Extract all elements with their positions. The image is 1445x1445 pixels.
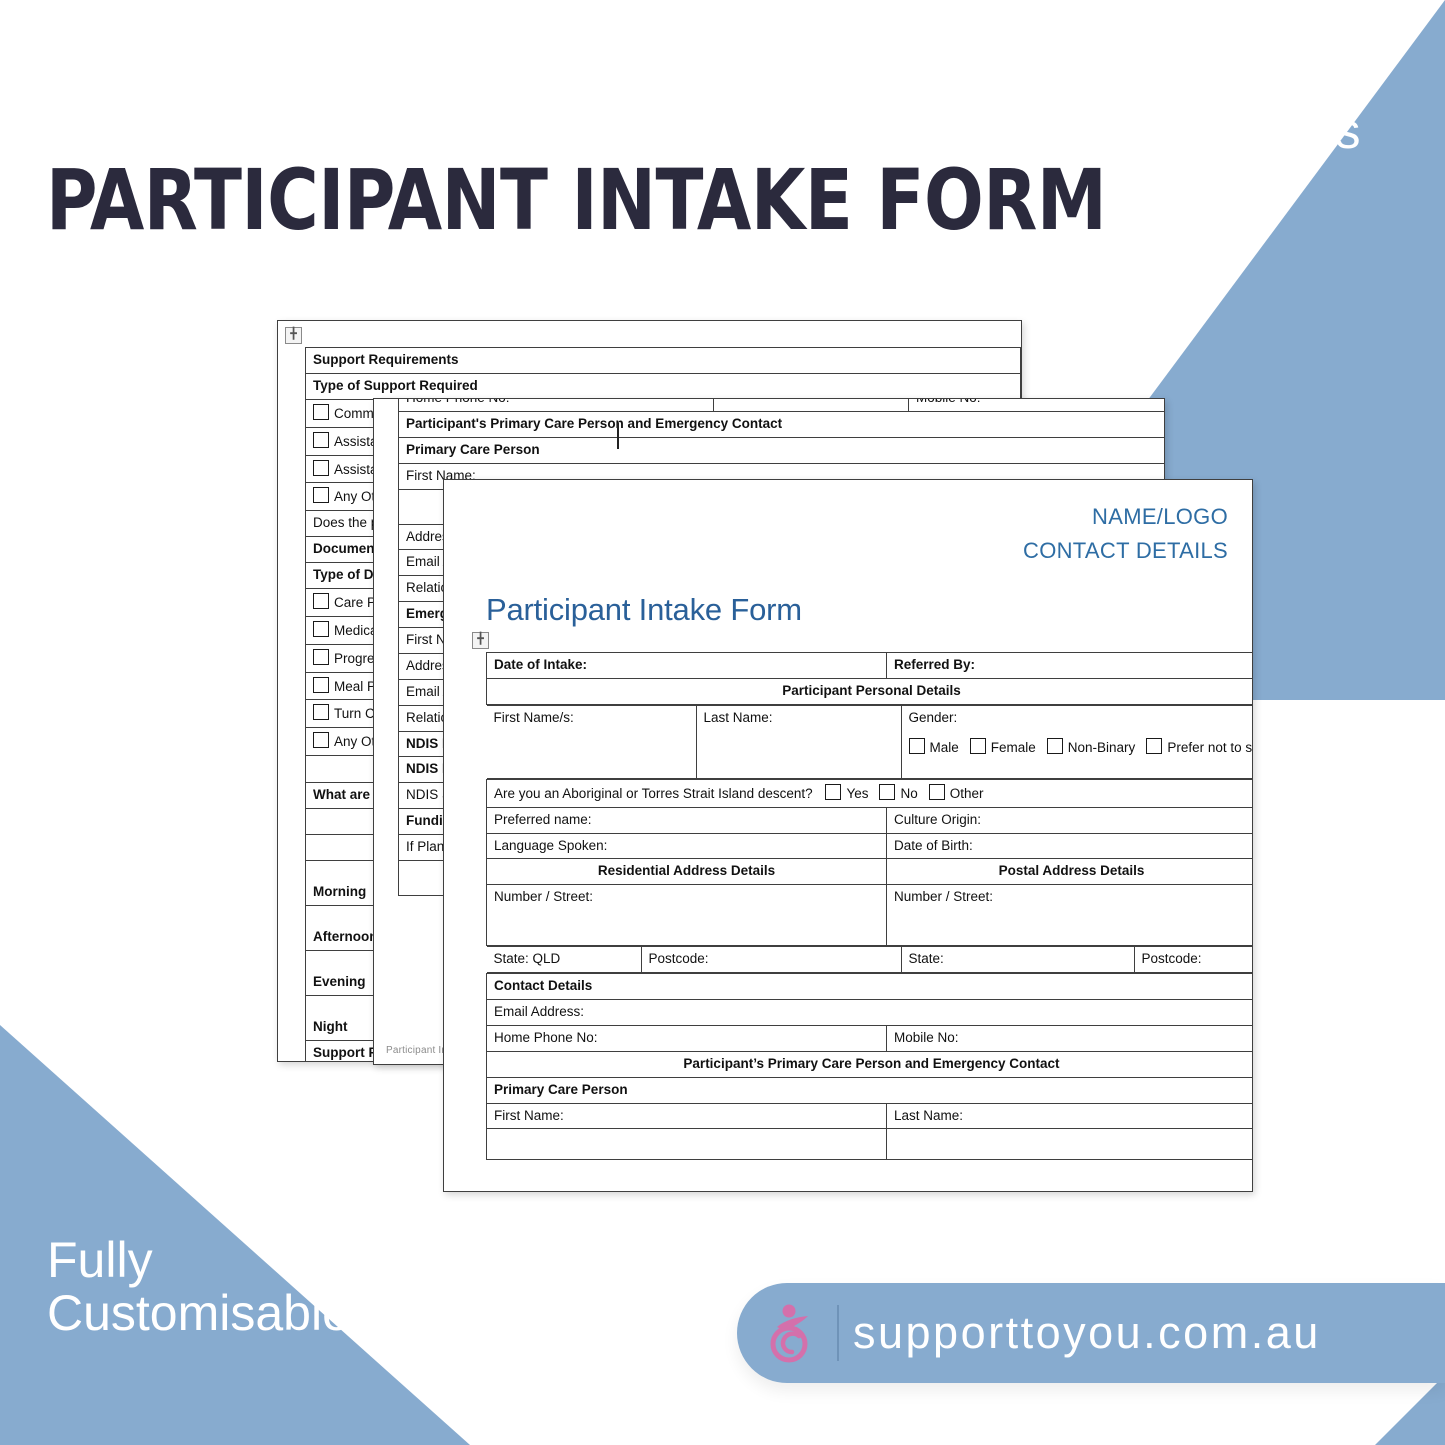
front-aboriginal-row[interactable]: Are you an Aboriginal or Torres Strait I… bbox=[487, 779, 1254, 807]
table-move-handle-icon[interactable]: ╋ bbox=[472, 632, 489, 649]
gender-option-female[interactable]: Female bbox=[970, 738, 1036, 757]
front-name-logo-block: NAME/LOGO CONTACT DETAILS bbox=[468, 500, 1228, 568]
front-date-of-birth: Date of Birth: bbox=[887, 833, 1254, 859]
mid-primary-care-person-header: Primary Care Person bbox=[399, 437, 1166, 463]
front-gender-options[interactable]: MaleFemaleNon-BinaryPrefer not to say bbox=[909, 738, 1254, 757]
gender-option-male[interactable]: Male bbox=[909, 738, 959, 757]
front-residential-address-header: Residential Address Details bbox=[487, 859, 887, 885]
checkbox-icon[interactable] bbox=[313, 404, 329, 420]
mid-home-phone-cell: Home Phone No: bbox=[399, 398, 714, 411]
front-mobile-no: Mobile No: bbox=[887, 1025, 1254, 1051]
front-residential-state: State: QLD bbox=[487, 947, 642, 973]
aboriginal-option-no[interactable]: No bbox=[879, 784, 917, 803]
contact-details-text: CONTACT DETAILS bbox=[468, 534, 1228, 568]
front-gender-cell: Gender: MaleFemaleNon-BinaryPrefer not t… bbox=[901, 705, 1253, 778]
checkbox-icon[interactable] bbox=[313, 677, 329, 693]
front-primary-care-person-header: Primary Care Person bbox=[487, 1077, 1254, 1103]
front-preferred-name: Preferred name: bbox=[487, 807, 887, 833]
front-contact-details-header: Contact Details bbox=[487, 974, 1254, 1000]
front-referred-by: Referred By: bbox=[887, 653, 1254, 679]
front-personal-details-header: Participant Personal Details bbox=[487, 678, 1254, 704]
checkbox-icon[interactable] bbox=[909, 738, 925, 754]
front-primary-care-header: Participant’s Primary Care Person and Em… bbox=[487, 1051, 1254, 1077]
checkbox-icon[interactable] bbox=[313, 432, 329, 448]
front-postal-address-header: Postal Address Details bbox=[887, 859, 1254, 885]
checkbox-icon[interactable] bbox=[1047, 738, 1063, 754]
mid-nextto-cell bbox=[714, 398, 909, 411]
front-residential-postcode: Postcode: bbox=[641, 947, 901, 973]
checkbox-icon[interactable] bbox=[313, 621, 329, 637]
checkbox-icon[interactable] bbox=[879, 784, 895, 800]
front-email-address: Email Address: bbox=[487, 1000, 1254, 1026]
front-home-phone: Home Phone No: bbox=[487, 1025, 887, 1051]
logo-divider bbox=[837, 1305, 839, 1361]
badge-line-2: Templates bbox=[1083, 105, 1361, 158]
front-gender-label: Gender: bbox=[909, 710, 1254, 727]
page-title: PARTICIPANT INTAKE FORM bbox=[46, 158, 1106, 242]
checkbox-icon[interactable] bbox=[313, 732, 329, 748]
mid-primary-care-header: Participant's Primary Care Person and Em… bbox=[399, 411, 1166, 437]
front-residential-number-street: Number / Street: bbox=[487, 885, 887, 946]
custom-line-1: Fully bbox=[47, 1234, 350, 1287]
checkbox-icon[interactable] bbox=[313, 460, 329, 476]
back-type-of-support-header: Type of Support Required bbox=[306, 373, 1021, 399]
website-footer-pill[interactable]: supporttoyou.com.au bbox=[737, 1283, 1445, 1383]
custom-line-2: Customisable bbox=[47, 1287, 350, 1340]
front-aboriginal-question: Are you an Aboriginal or Torres Strait I… bbox=[494, 786, 813, 801]
checkbox-icon[interactable] bbox=[313, 593, 329, 609]
front-pc-last-name: Last Name: bbox=[887, 1103, 1254, 1129]
website-url[interactable]: supporttoyou.com.au bbox=[853, 1307, 1321, 1359]
front-doc-header: NAME/LOGO CONTACT DETAILS bbox=[444, 480, 1252, 568]
checkbox-icon[interactable] bbox=[313, 487, 329, 503]
front-pc-extra-left bbox=[487, 1129, 887, 1160]
checkbox-icon[interactable] bbox=[825, 784, 841, 800]
poster-canvas: PARTICIPANT INTAKE FORM High Quality Tem… bbox=[0, 0, 1445, 1445]
accessibility-logo-icon bbox=[763, 1300, 829, 1366]
front-pc-first-name: First Name: bbox=[487, 1103, 887, 1129]
aboriginal-option-other[interactable]: Other bbox=[929, 784, 984, 803]
checkbox-icon[interactable] bbox=[1146, 738, 1162, 754]
fully-customisable-label: Fully Customisable bbox=[47, 1234, 350, 1340]
name-logo-text: NAME/LOGO bbox=[468, 500, 1228, 534]
front-postal-postcode: Postcode: bbox=[1134, 947, 1253, 973]
document-page-front[interactable]: NAME/LOGO CONTACT DETAILS Participant In… bbox=[443, 479, 1253, 1192]
front-postal-number-street: Number / Street: bbox=[887, 885, 1254, 946]
gender-option-non-binary[interactable]: Non-Binary bbox=[1047, 738, 1136, 757]
bottom-right-corner-shape bbox=[1375, 1375, 1445, 1445]
front-culture-origin: Culture Origin: bbox=[887, 807, 1254, 833]
front-pc-extra-right bbox=[887, 1129, 1254, 1160]
high-quality-badge: High Quality Templates bbox=[1083, 52, 1361, 158]
table-move-handle-icon[interactable]: ╋ bbox=[285, 327, 302, 344]
checkbox-icon[interactable] bbox=[313, 704, 329, 720]
front-first-names: First Name/s: bbox=[487, 705, 697, 778]
front-doc-title: Participant Intake Form bbox=[486, 592, 1252, 628]
text-cursor-caret bbox=[617, 423, 619, 449]
checkbox-icon[interactable] bbox=[313, 649, 329, 665]
mid-mobile-cell: Mobile No: bbox=[909, 398, 1166, 411]
back-support-requirements-header: Support Requirements bbox=[306, 348, 1021, 374]
gender-option-prefer-not-to-say[interactable]: Prefer not to say bbox=[1146, 738, 1253, 757]
badge-line-1: High Quality bbox=[1083, 52, 1361, 105]
front-language-spoken: Language Spoken: bbox=[487, 833, 887, 859]
front-last-name: Last Name: bbox=[696, 705, 901, 778]
checkbox-icon[interactable] bbox=[970, 738, 986, 754]
front-postal-state: State: bbox=[901, 947, 1134, 973]
checkbox-icon[interactable] bbox=[929, 784, 945, 800]
aboriginal-option-yes[interactable]: Yes bbox=[825, 784, 868, 803]
front-date-of-intake: Date of Intake: bbox=[487, 653, 887, 679]
